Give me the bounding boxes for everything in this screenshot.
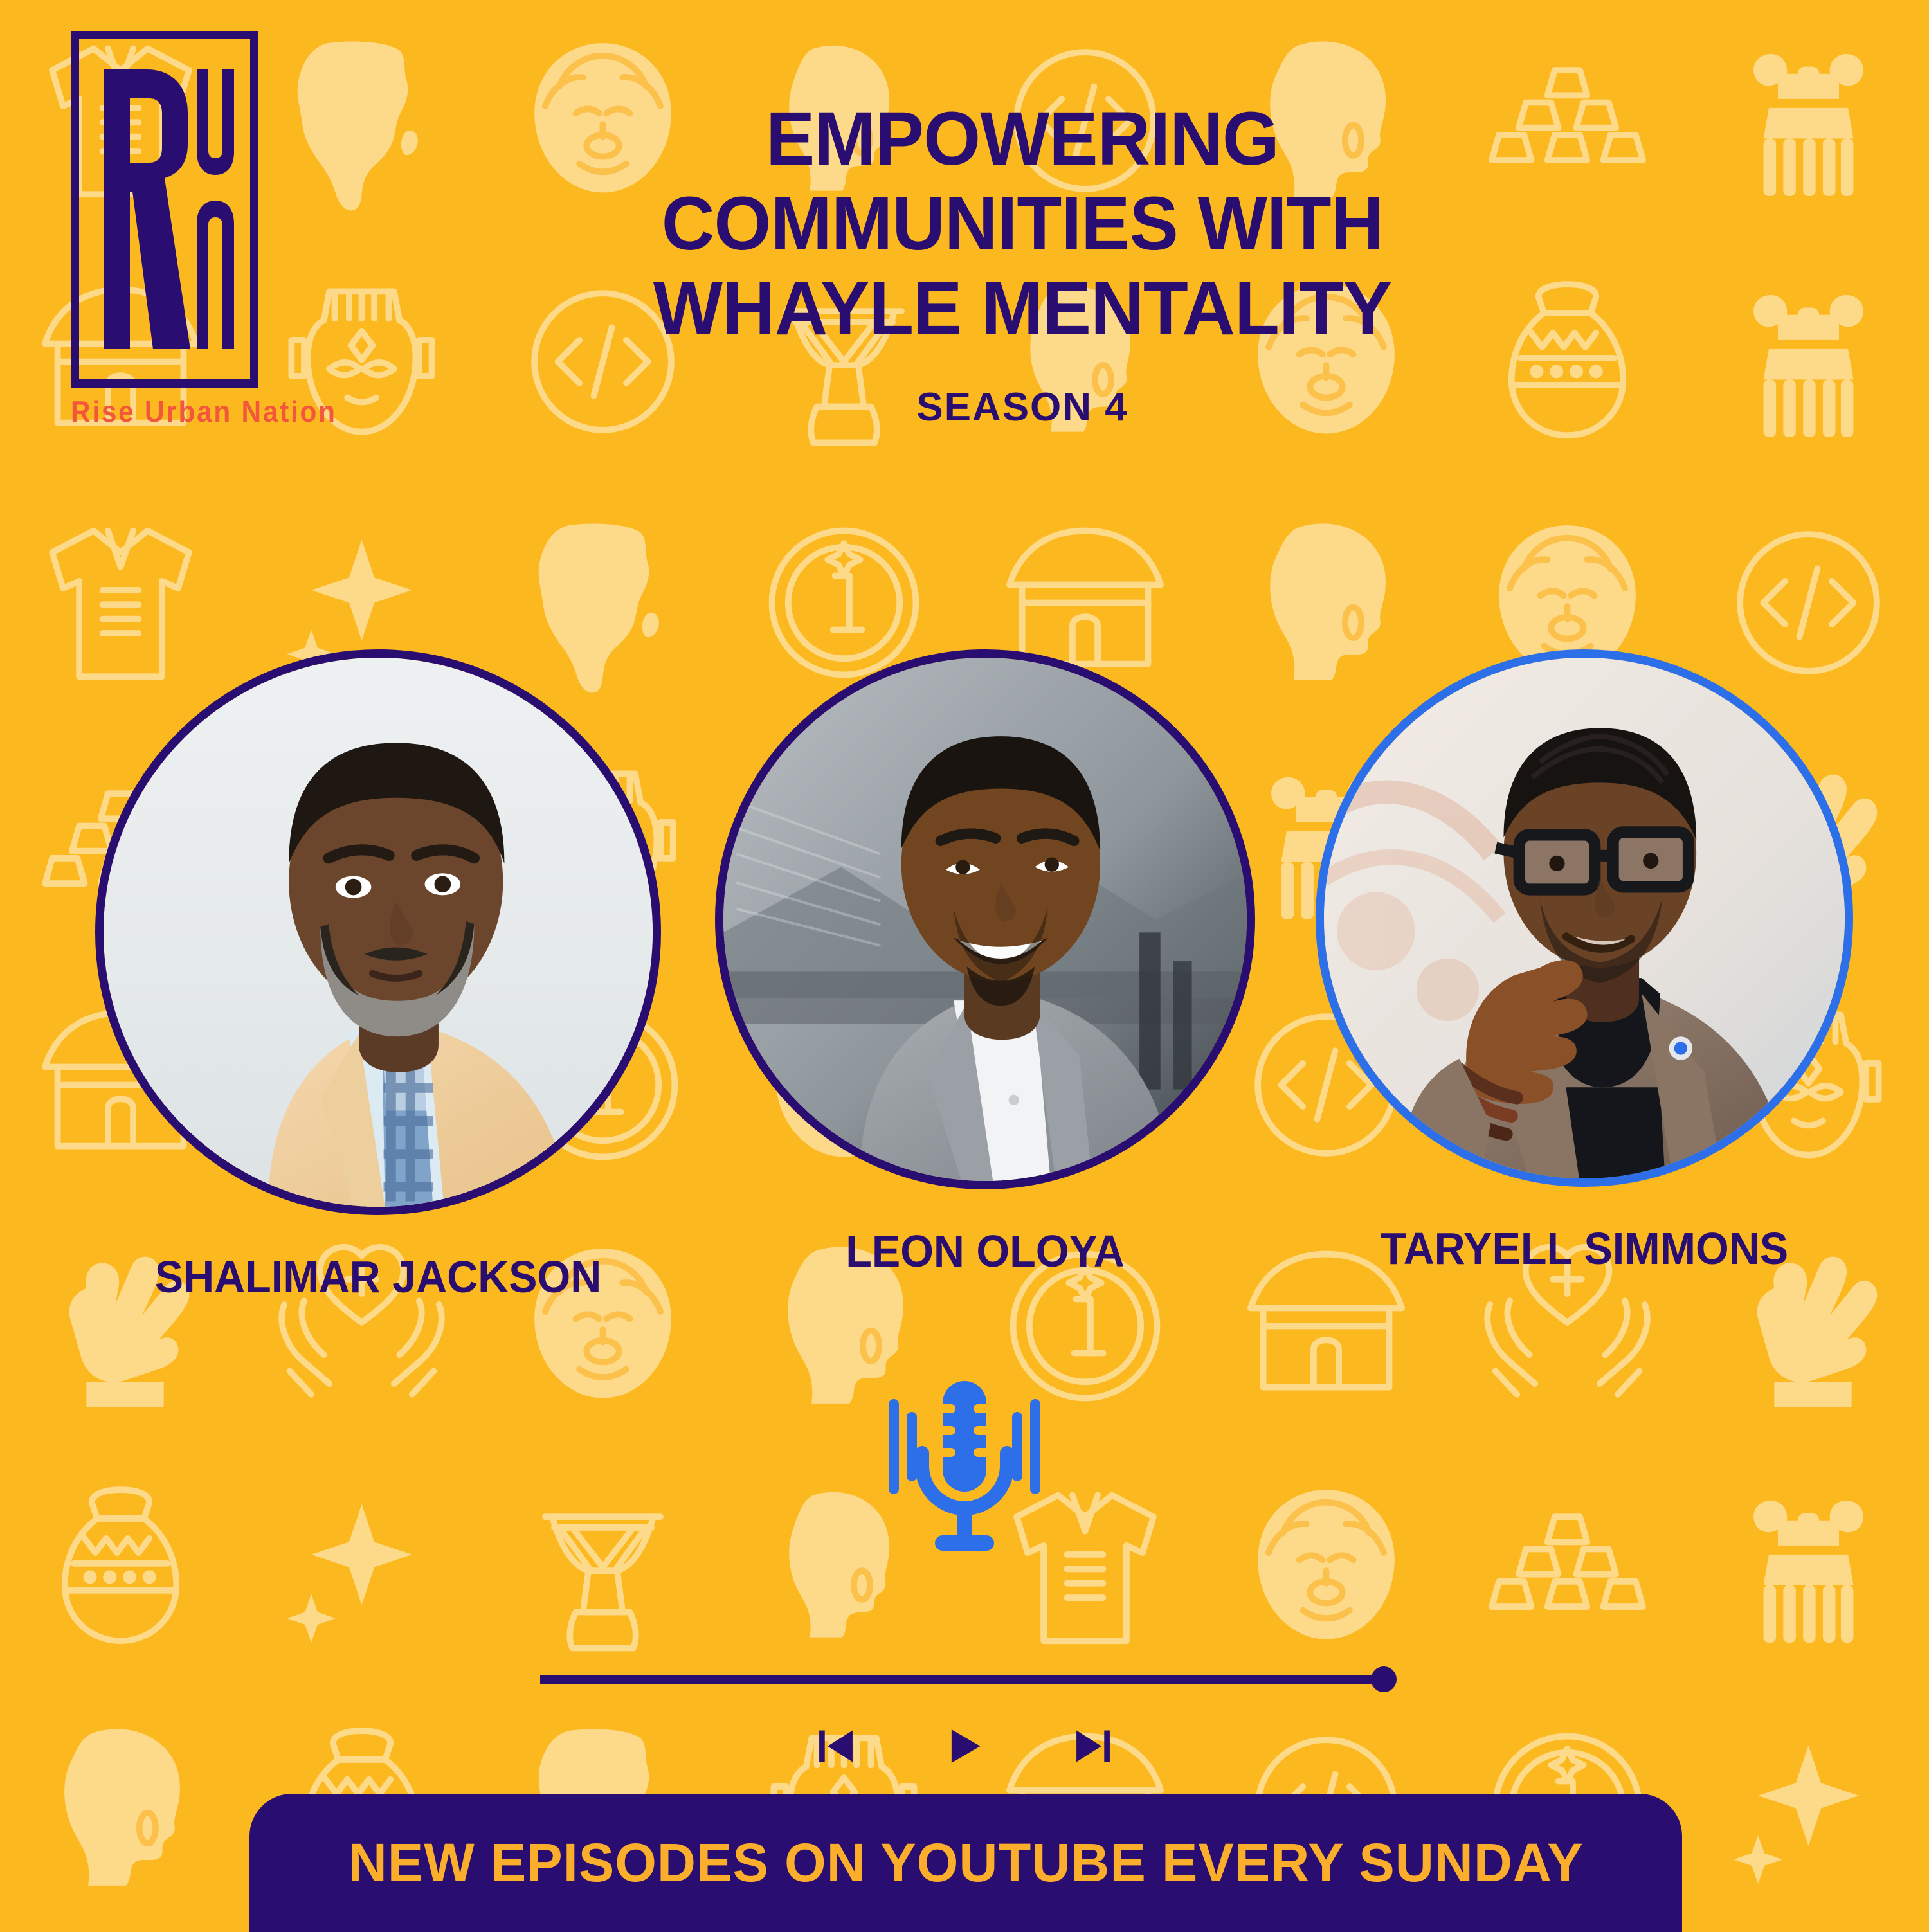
play-icon[interactable] xyxy=(941,1723,988,1769)
next-track-icon[interactable] xyxy=(1070,1723,1116,1769)
playback-controls xyxy=(0,1723,1929,1769)
season-label: SEASON 4 xyxy=(527,384,1517,430)
guest-card-0[interactable]: SHALIMAR JACKSON xyxy=(95,649,661,1215)
audio-player xyxy=(0,1376,1929,1569)
guest-card-1[interactable]: LEON OLOYA xyxy=(715,649,1255,1189)
brand-logo: Rise Urban Nation xyxy=(71,31,258,388)
africa-map-icon xyxy=(241,0,482,241)
cta-banner-text: NEW EPISODES ON YOUTUBE EVERY SUNDAY xyxy=(348,1832,1583,1894)
title-line-1: EMPOWERING xyxy=(542,96,1503,181)
avatar xyxy=(715,649,1255,1189)
logo-monogram-run-icon xyxy=(71,31,258,388)
progress-track[interactable] xyxy=(540,1675,1389,1684)
avatar xyxy=(1316,649,1853,1187)
guest-photo-1 xyxy=(723,658,1247,1181)
guest-list: SHALIMAR JACKSON xyxy=(0,649,1929,1369)
page-title: EMPOWERING COMMUNITIES WITH WHAYLE MENTA… xyxy=(542,96,1503,351)
afro-pick-icon xyxy=(1688,0,1929,241)
title-line-2: COMMUNITIES WITH xyxy=(542,181,1503,266)
guest-photo-2 xyxy=(1324,658,1845,1178)
guest-name-0: SHALIMAR JACKSON xyxy=(155,1251,602,1303)
guest-name-2: TARYELL SIMMONS xyxy=(1381,1223,1788,1274)
guest-photo-0 xyxy=(104,658,653,1207)
logo-wordmark: Rise Urban Nation xyxy=(71,394,266,429)
guest-name-1: LEON OLOYA xyxy=(846,1225,1125,1277)
cta-banner[interactable]: NEW EPISODES ON YOUTUBE EVERY SUNDAY xyxy=(249,1794,1682,1932)
progress-knob[interactable] xyxy=(1371,1666,1397,1692)
avatar xyxy=(95,649,661,1215)
previous-track-icon[interactable] xyxy=(813,1723,859,1769)
microphone-wrap xyxy=(0,1376,1929,1569)
tribal-mask-icon xyxy=(241,241,482,482)
guest-card-2[interactable]: TARYELL SIMMONS xyxy=(1316,649,1853,1187)
progress-bar[interactable] xyxy=(540,1666,1389,1692)
afro-pick-icon xyxy=(1688,241,1929,482)
title-line-3: WHAYLE MENTALITY xyxy=(542,266,1503,351)
microphone-icon xyxy=(881,1376,1048,1569)
header-block: EMPOWERING COMMUNITIES WITH WHAYLE MENTA… xyxy=(527,96,1517,430)
